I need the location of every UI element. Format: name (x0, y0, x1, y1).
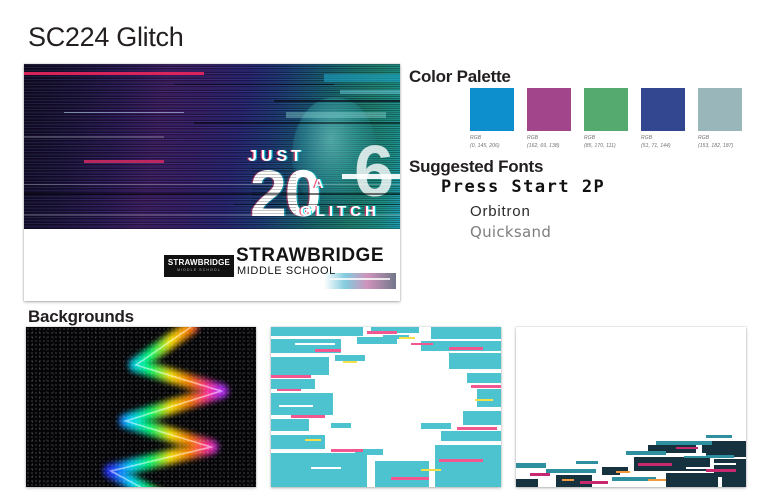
glitch-band (274, 100, 400, 102)
noise-overlay (26, 327, 256, 487)
poster-word-glitch: GLITCH (300, 203, 380, 220)
glitch-band (24, 184, 400, 185)
color-swatch-mode: RGB (698, 135, 742, 143)
footer-glitch-accent (324, 273, 396, 289)
logo-badge-subtitle: MIDDLE SCHOOL (177, 269, 221, 272)
glitch-band (64, 112, 184, 113)
color-swatch-value: (85, 170, 111) (584, 143, 628, 151)
poster-glitch-bar (342, 174, 400, 179)
color-swatch[interactable]: RGB (0, 145, 206) (470, 88, 514, 150)
page-title: SC224 Glitch (28, 22, 183, 53)
color-swatch[interactable]: RGB (51, 71, 144) (641, 88, 685, 150)
font-sample-quicksand: Quicksand (470, 223, 551, 241)
background-thumbnail-cyan-pink-glitch[interactable] (271, 327, 501, 487)
glitch-band (24, 72, 204, 75)
color-swatch-label: RGB (51, 71, 144) (641, 135, 685, 150)
glitch-band (24, 136, 164, 138)
background-thumbnail-bottom-edge-glitch[interactable] (516, 327, 746, 487)
glitch-band (324, 74, 400, 82)
color-swatch[interactable]: RGB (85, 170, 111) (584, 88, 628, 150)
portrait-glitch-slice (286, 112, 386, 118)
poster-brand-name: STRAWBRIDGE (236, 245, 384, 267)
glitch-band (174, 84, 334, 85)
logo-badge-name: STRAWBRIDGE (168, 259, 230, 267)
color-swatch-mode: RGB (470, 135, 514, 143)
color-swatch[interactable]: RGB (162, 69, 138) (527, 88, 571, 150)
color-swatch-chip[interactable] (584, 88, 628, 131)
glitch-band (24, 193, 400, 195)
cyan-pink-glitch-graphic (271, 327, 501, 487)
strawbridge-logo-badge: STRAWBRIDGE MIDDLE SCHOOL (164, 255, 234, 277)
color-swatch-chip[interactable] (641, 88, 685, 131)
color-swatch-mode: RGB (527, 135, 571, 143)
poster-footer: STRAWBRIDGE MIDDLE SCHOOL STRAWBRIDGE MI… (24, 229, 400, 301)
color-swatch-label: RGB (85, 170, 111) (584, 135, 628, 150)
color-swatch-chip[interactable] (470, 88, 514, 131)
color-swatch-value: (153, 182, 187) (698, 143, 742, 151)
style-sheet-page: SC224 Glitch 6 JUST 20 A GLITCH (0, 0, 768, 501)
color-swatch-value: (51, 71, 144) (641, 143, 685, 151)
bottom-edge-glitch-graphic (516, 327, 746, 487)
color-swatch-mode: RGB (584, 135, 628, 143)
color-swatch-label: RGB (0, 145, 206) (470, 135, 514, 150)
color-swatch-label: RGB (153, 182, 187) (698, 135, 742, 150)
poster-artwork: 6 JUST 20 A GLITCH (24, 64, 400, 229)
color-palette-heading: Color Palette (409, 67, 511, 87)
color-swatch[interactable]: RGB (153, 182, 187) (698, 88, 742, 150)
poster-brand-subtitle: MIDDLE SCHOOL (237, 265, 336, 277)
color-swatch-chip[interactable] (698, 88, 742, 131)
glitch-band (84, 160, 164, 163)
color-palette-swatches: RGB (0, 145, 206) RGB (162, 69, 138) RGB… (470, 88, 742, 150)
color-swatch-mode: RGB (641, 135, 685, 143)
poster-year-right: 6 (354, 136, 394, 208)
glitch-band (194, 122, 400, 124)
glitch-band (234, 204, 400, 205)
glitch-band (340, 90, 400, 94)
font-sample-orbitron: Orbitron (470, 203, 531, 220)
suggested-fonts-heading: Suggested Fonts (409, 157, 543, 177)
background-thumbnail-rainbow-zigzag[interactable] (26, 327, 256, 487)
color-swatch-value: (0, 145, 206) (470, 143, 514, 151)
font-sample-press-start-2p: Press Start 2P (441, 177, 605, 197)
color-swatch-chip[interactable] (527, 88, 571, 131)
glitch-band (24, 214, 400, 216)
color-swatch-value: (162, 69, 138) (527, 143, 571, 151)
color-swatch-label: RGB (162, 69, 138) (527, 135, 571, 150)
poster-preview[interactable]: 6 JUST 20 A GLITCH STRAWBRIDGE MIDDLE SC… (24, 64, 400, 301)
backgrounds-heading: Backgrounds (28, 307, 134, 327)
